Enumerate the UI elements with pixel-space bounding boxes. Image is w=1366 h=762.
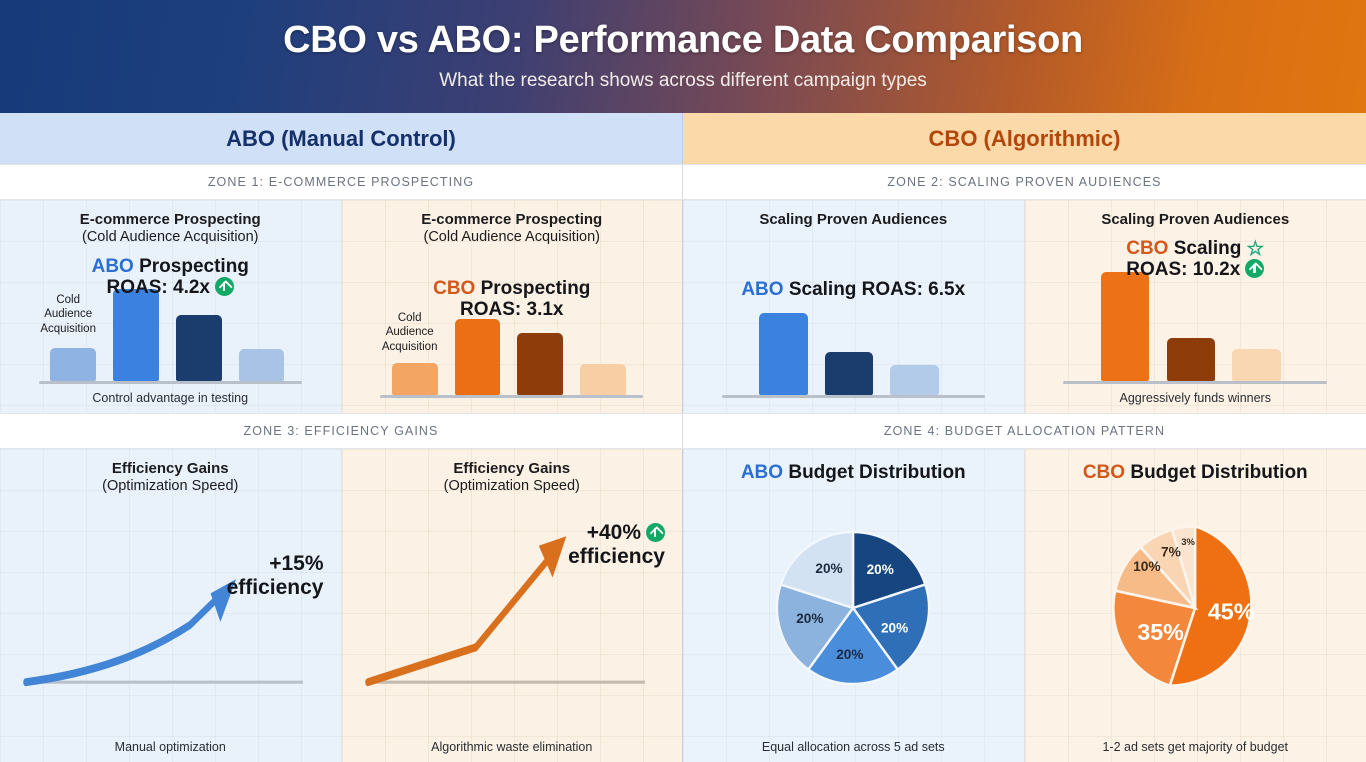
panel-title: E-commerce Prospecting (Cold Audience Ac…	[421, 211, 602, 246]
panel-title-line1: Scaling Proven Audiences	[759, 211, 947, 229]
panel-title-line1: Efficiency Gains	[444, 460, 580, 478]
column-header-cbo: CBO (Algorithmic)	[683, 113, 1366, 164]
bar-item	[176, 315, 222, 381]
zone-label-4: ZONE 4: BUDGET ALLOCATION PATTERN	[683, 414, 1366, 448]
zone-label-row-bottom: ZONE 3: EFFICIENCY GAINS ZONE 4: BUDGET …	[0, 413, 1366, 449]
metric-tag: ABO	[741, 279, 783, 300]
panel-z3-abo: Efficiency Gains (Optimization Speed) +1…	[0, 449, 342, 762]
bar-item	[392, 363, 438, 395]
bar-item	[517, 333, 563, 395]
trend-value-sub: efficiency	[568, 545, 665, 569]
page-header: CBO vs ABO: Performance Data Comparison …	[0, 0, 1366, 113]
panel-title: Scaling Proven Audiences	[1101, 211, 1289, 229]
column-header-abo: ABO (Manual Control)	[0, 113, 683, 164]
metric-rest: Prospecting	[475, 278, 590, 299]
panel-title: Efficiency Gains (Optimization Speed)	[444, 460, 580, 495]
chart-baseline	[722, 395, 985, 398]
panel-z3-cbo: Efficiency Gains (Optimization Speed) +4…	[342, 449, 684, 762]
pie-slice-label: 7%	[1161, 545, 1181, 560]
panel-z1-abo: E-commerce Prospecting (Cold Audience Ac…	[0, 200, 342, 413]
panel-caption: 1-2 ad sets get majority of budget	[1098, 733, 1292, 756]
page-title: CBO vs ABO: Performance Data Comparison	[283, 21, 1083, 61]
bar-item	[825, 352, 874, 395]
metric-value: ROAS: 4.2x	[107, 277, 210, 298]
bar-item	[455, 319, 501, 395]
panel-caption: Control advantage in testing	[88, 384, 252, 407]
pie-slice-label: 20%	[796, 611, 823, 626]
panel-title-line2: (Cold Audience Acquisition)	[80, 229, 261, 246]
bars-group	[710, 300, 996, 398]
arrow-up-badge-icon	[1245, 259, 1264, 278]
pie-slices: 45% 35% 10% 7% 3%	[1114, 527, 1255, 686]
arrow-head-icon	[538, 536, 566, 577]
bars-group: ColdAudienceAcquisition	[27, 299, 313, 384]
line-chart-z3-abo: +15% efficiency	[8, 495, 333, 733]
trend-value-row: +40%	[568, 521, 665, 545]
pie-slice-label: 20%	[867, 562, 894, 577]
metric-value: ROAS: 10.2x	[1126, 259, 1240, 280]
panel-z2-cbo: Scaling Proven Audiences CBO Scaling☆ RO…	[1025, 200, 1366, 413]
panel-title-line2: (Optimization Speed)	[444, 478, 580, 495]
panel-title-line1: E-commerce Prospecting	[421, 211, 602, 229]
pie-slice-label: 3%	[1182, 538, 1196, 549]
bar-chart-z2-cbo	[1033, 281, 1359, 384]
trend-annotation: +40% efficiency	[568, 521, 665, 568]
pie-svg: 20% 20% 20% 20% 20%	[773, 528, 933, 688]
trend-value: +15%	[227, 552, 324, 576]
panel-title: Scaling Proven Audiences	[759, 211, 947, 229]
bar-item	[759, 313, 808, 395]
panel-title: E-commerce Prospecting (Cold Audience Ac…	[80, 211, 261, 246]
panel-title-line1: Efficiency Gains	[102, 460, 238, 478]
page-subtitle: What the research shows across different…	[439, 70, 927, 92]
zone-label-1: ZONE 1: E-COMMERCE PROSPECTING	[0, 165, 683, 199]
panel-caption: Equal allocation across 5 ad sets	[758, 733, 949, 756]
arrow-up-badge-icon	[215, 277, 234, 296]
bar-chart-z1-abo: ColdAudienceAcquisition	[8, 299, 333, 384]
bar-item	[239, 349, 285, 381]
zone-row-top: E-commerce Prospecting (Cold Audience Ac…	[0, 200, 1366, 413]
star-icon: ☆	[1246, 239, 1264, 259]
pie-slices: 20% 20% 20% 20% 20%	[777, 532, 929, 684]
column-headers: ABO (Manual Control) CBO (Algorithmic)	[0, 113, 1366, 164]
chart-baseline	[380, 395, 643, 398]
trend-value-sub: efficiency	[227, 576, 324, 600]
pie-slice-label: 20%	[816, 562, 843, 577]
panel-z4-abo: ABO Budget Distribution 20% 20% 20% 20%	[683, 449, 1025, 762]
metric-tag: CBO	[1083, 462, 1125, 483]
line-chart-z3-cbo: +40% efficiency	[350, 495, 675, 733]
pie-slice-label: 35%	[1138, 619, 1185, 645]
trend-annotation: +15% efficiency	[227, 552, 324, 599]
metric-rest: Scaling	[1168, 238, 1241, 259]
bar-side-label: ColdAudienceAcquisition	[33, 293, 103, 336]
trend-line	[367, 555, 551, 682]
pie-slice-label: 20%	[881, 621, 908, 636]
zone-row-bottom: Efficiency Gains (Optimization Speed) +1…	[0, 449, 1366, 762]
zone-label-2: ZONE 2: SCALING PROVEN AUDIENCES	[683, 165, 1366, 199]
pie-slice-label: 10%	[1133, 560, 1161, 575]
bar-chart-z1-cbo: ColdAudienceAcquisition	[350, 321, 675, 398]
bar-item	[50, 348, 96, 381]
trend-value: +40%	[587, 521, 641, 544]
trend-line	[26, 593, 223, 682]
metric-rest: Budget Distribution	[1125, 462, 1308, 483]
metric-rest: Prospecting	[134, 256, 249, 277]
bar-item	[580, 364, 626, 395]
panel-metric: CBO Scaling☆ ROAS: 10.2x	[1126, 238, 1264, 281]
pie-chart-z4-abo: 20% 20% 20% 20% 20%	[691, 484, 1016, 733]
panel-caption: Manual optimization	[111, 733, 230, 756]
pie-slice-label: 20%	[836, 647, 863, 662]
metric-tag: CBO	[1126, 238, 1168, 259]
infographic-page: CBO vs ABO: Performance Data Comparison …	[0, 0, 1366, 762]
bar-chart-z2-abo	[691, 300, 1016, 398]
bars-group	[1052, 281, 1338, 384]
bars-group: ColdAudienceAcquisition	[369, 321, 655, 398]
trend-svg	[8, 495, 333, 733]
metric-value: ROAS: 3.1x	[433, 299, 590, 321]
metric-rest: Budget Distribution	[783, 462, 966, 483]
panel-metric: ABO Budget Distribution	[741, 462, 966, 484]
pie-slice-label: 45%	[1208, 599, 1255, 625]
pie-chart-z4-cbo: 45% 35% 10% 7% 3%	[1033, 484, 1359, 733]
zone-label-row-top: ZONE 1: E-COMMERCE PROSPECTING ZONE 2: S…	[0, 164, 1366, 200]
panel-title-line2: (Optimization Speed)	[102, 478, 238, 495]
pie-svg: 45% 35% 10% 7% 3%	[1109, 522, 1281, 694]
bar-item	[1232, 349, 1281, 381]
panel-caption: Aggressively funds winners	[1116, 384, 1275, 407]
bar-item	[890, 365, 939, 395]
metric-tag: ABO	[741, 462, 783, 483]
metric-tag: CBO	[433, 278, 475, 299]
bar-item	[1101, 272, 1150, 381]
panel-caption: Algorithmic waste elimination	[427, 733, 596, 756]
bar-item	[1167, 338, 1216, 381]
panel-metric: ABO Prospecting ROAS: 4.2x	[92, 256, 249, 299]
metric-rest: Scaling ROAS: 6.5x	[784, 279, 966, 300]
panel-title-line1: Scaling Proven Audiences	[1101, 211, 1289, 229]
zone-label-3: ZONE 3: EFFICIENCY GAINS	[0, 414, 683, 448]
panel-title-line1: E-commerce Prospecting	[80, 211, 261, 229]
metric-tag: ABO	[92, 256, 134, 277]
panel-z2-abo: Scaling Proven Audiences ABO Scaling ROA…	[683, 200, 1025, 413]
panel-title-line2: (Cold Audience Acquisition)	[421, 229, 602, 246]
panel-metric: ABO Scaling ROAS: 6.5x	[741, 279, 965, 301]
panel-metric: CBO Budget Distribution	[1083, 462, 1308, 484]
bar-item	[113, 289, 159, 381]
arrow-up-badge-icon	[646, 523, 665, 542]
panel-metric: CBO Prospecting ROAS: 3.1x	[433, 278, 590, 321]
panel-title: Efficiency Gains (Optimization Speed)	[102, 460, 238, 495]
panel-z4-cbo: CBO Budget Distribution 45% 35% 10% 7%	[1025, 449, 1366, 762]
panel-z1-cbo: E-commerce Prospecting (Cold Audience Ac…	[342, 200, 684, 413]
